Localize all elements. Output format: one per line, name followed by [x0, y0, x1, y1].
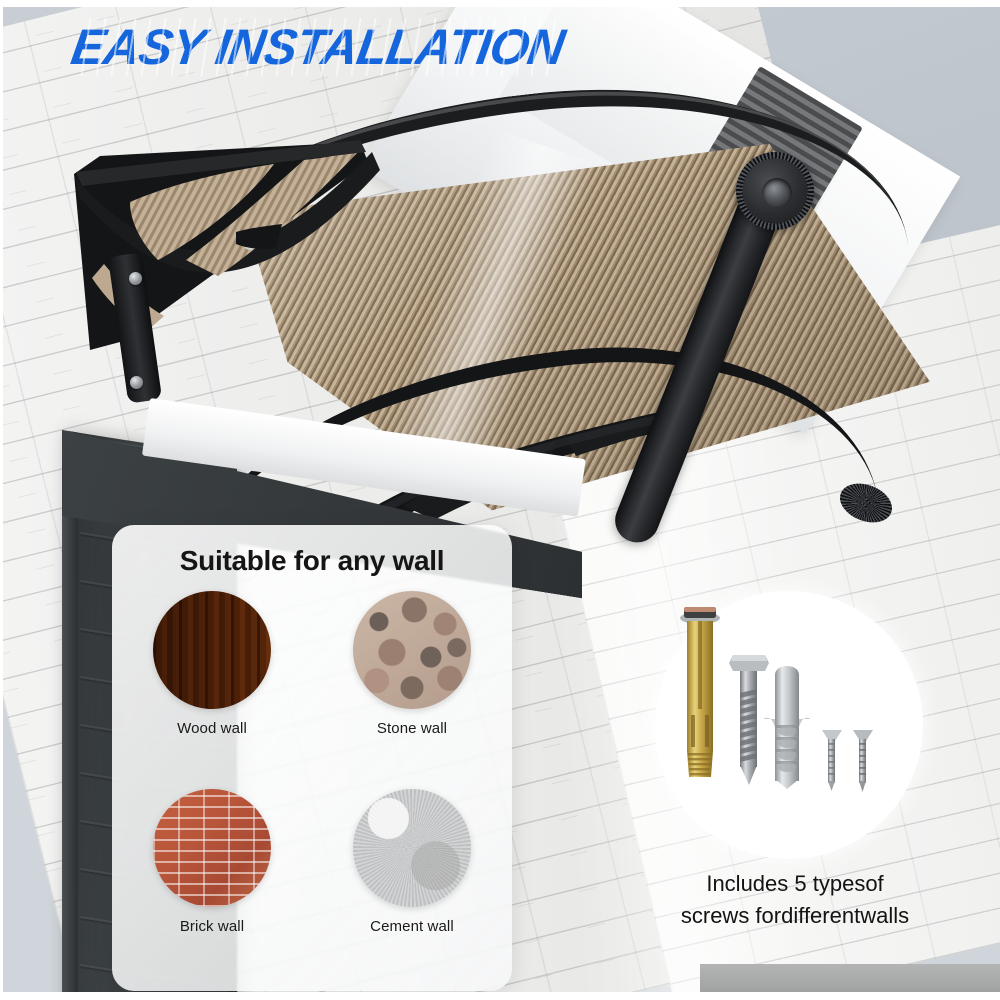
- brick-swatch: [153, 789, 271, 907]
- product-photo: Suitable for any wall Wood wall Stone wa…: [0, 6, 1000, 994]
- small-screw-1-icon: [822, 730, 842, 791]
- wall-label-wood: Wood wall: [177, 720, 247, 737]
- bottom-white-margin: [0, 992, 1000, 1000]
- cement-swatch: [353, 789, 471, 907]
- mount-bolt-bottom: [130, 376, 143, 389]
- hardware-illustration: [655, 591, 923, 859]
- wall-type-stone: Stone wall: [312, 591, 512, 789]
- headline-banner: EASY INSTALLATION: [67, 18, 568, 76]
- hardware-caption-line2: screws fordifferentwalls: [620, 900, 970, 932]
- suitable-wall-panel: Suitable for any wall Wood wall Stone wa…: [112, 525, 512, 991]
- mount-bolt-top: [129, 272, 142, 285]
- canopy-bracket-left: [60, 136, 380, 386]
- wall-label-brick: Brick wall: [180, 918, 244, 935]
- hardware-caption: Includes 5 typesof screws fordifferentwa…: [620, 868, 970, 932]
- wall-label-stone: Stone wall: [377, 720, 447, 737]
- headline-text: EASY INSTALLATION: [67, 18, 568, 76]
- panel-title: Suitable for any wall: [112, 545, 512, 577]
- wall-type-brick: Brick wall: [112, 789, 312, 987]
- concrete-ledge: [700, 964, 1000, 994]
- plastic-anchor-icon: [763, 666, 811, 789]
- hardware-circle: [655, 591, 923, 859]
- wall-type-grid: Wood wall Stone wall Brick wall Cement w…: [112, 591, 512, 987]
- wood-swatch: [153, 591, 271, 709]
- left-white-margin: [0, 0, 3, 1000]
- hardware-caption-line1: Includes 5 typesof: [620, 868, 970, 900]
- expansion-bolt-icon: [680, 607, 720, 777]
- wall-type-cement: Cement wall: [312, 789, 512, 987]
- small-screw-2-icon: [853, 730, 873, 792]
- wall-label-cement: Cement wall: [370, 918, 454, 935]
- top-white-margin: [0, 0, 1000, 7]
- wall-type-wood: Wood wall: [112, 591, 312, 789]
- product-marketing-image: Suitable for any wall Wood wall Stone wa…: [0, 0, 1000, 1000]
- lag-screw-icon: [729, 655, 769, 785]
- stone-swatch: [353, 591, 471, 709]
